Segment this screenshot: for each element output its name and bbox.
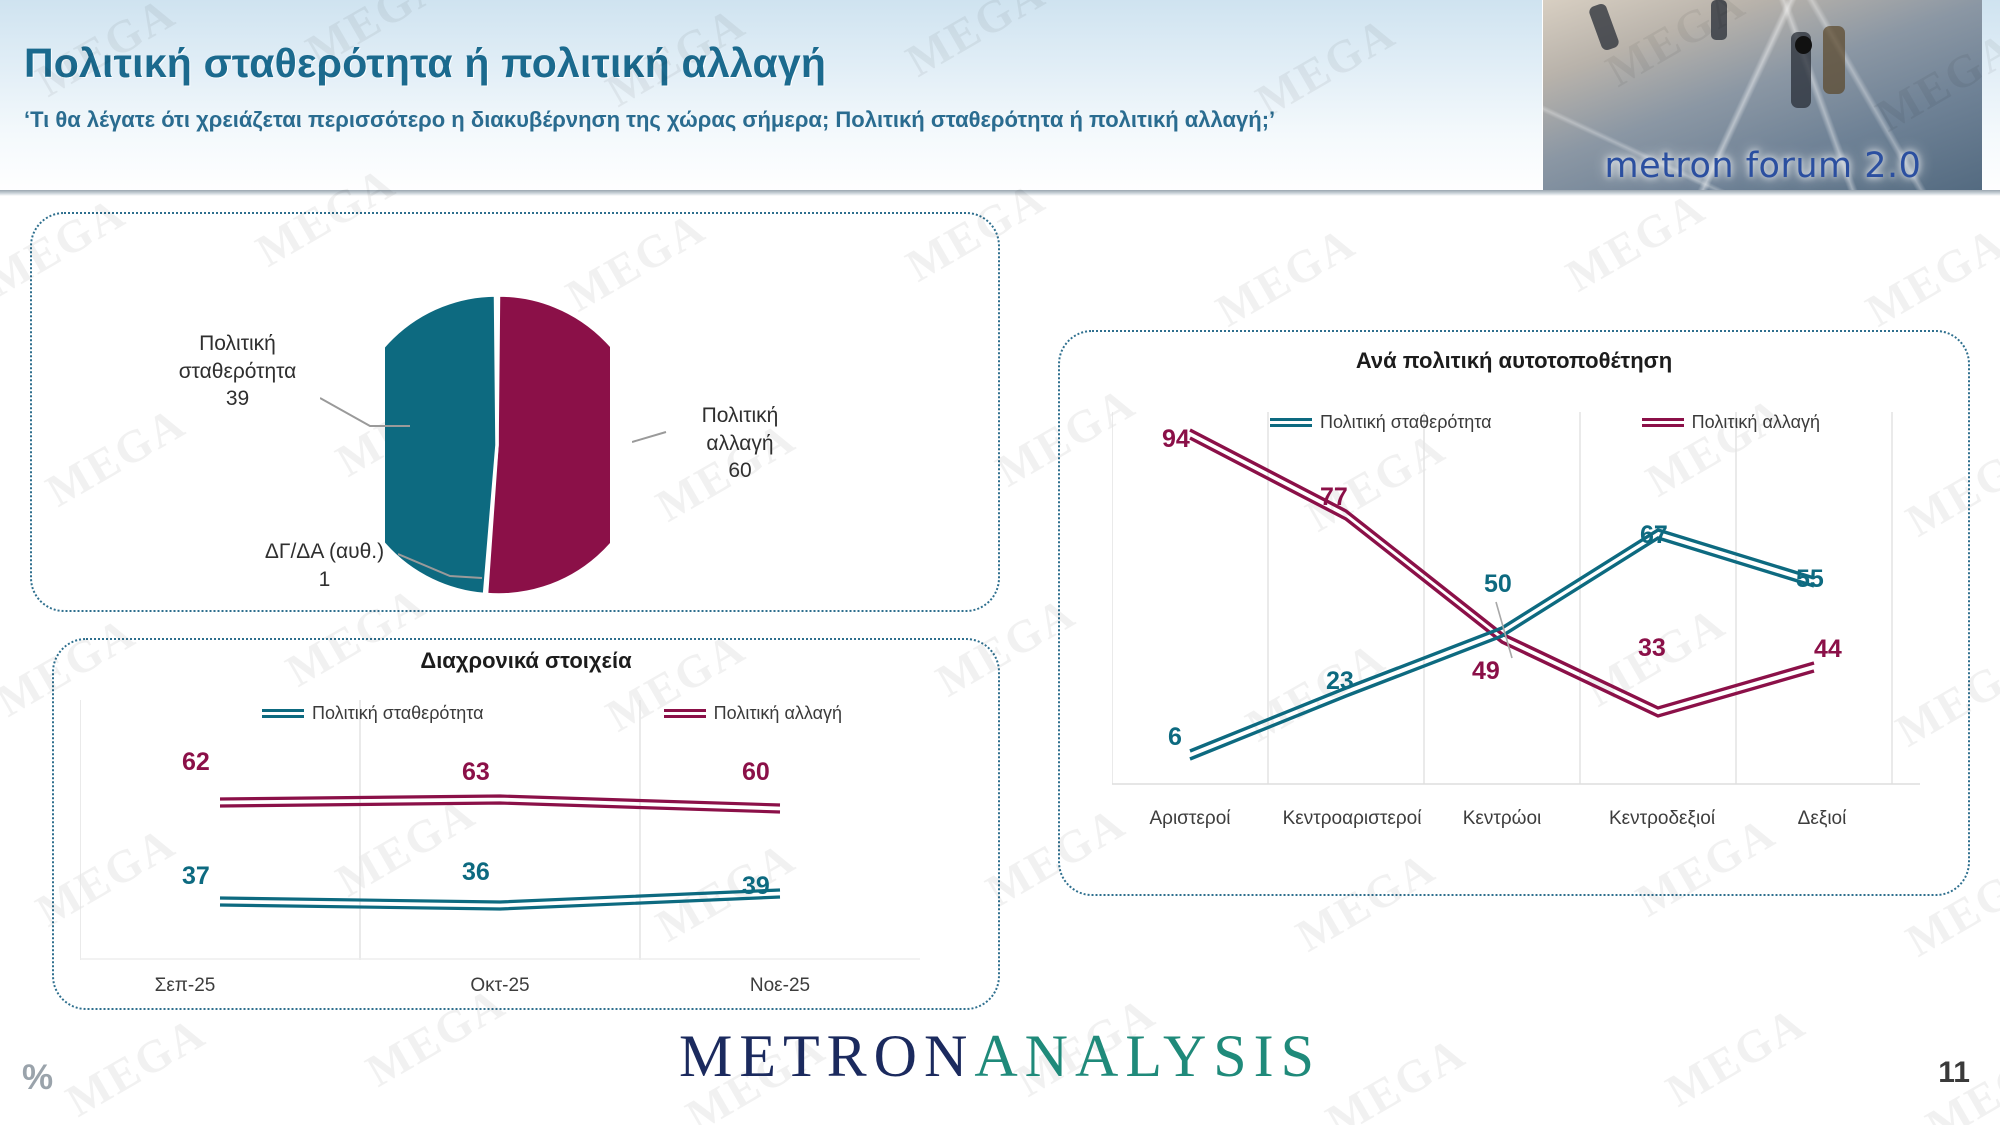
trend-datalabel-change-1: 63 (462, 758, 490, 787)
pie-label-political-stability: Πολιτική σταθερότητα 39 (150, 330, 325, 413)
legend-item-change[interactable]: Πολιτική αλλαγή (664, 703, 842, 724)
self-xaxis-label-3: Κεντροδεξιοί (1562, 808, 1762, 830)
legend-label: Πολιτική αλλαγή (714, 703, 842, 724)
trend-datalabel-change-2: 60 (742, 758, 770, 787)
legend-label: Πολιτική σταθερότητα (1320, 412, 1492, 433)
page-header: Πολιτική σταθερότητα ή πολιτική αλλαγή ‘… (0, 0, 2000, 196)
trend-plot-svg (80, 700, 920, 960)
trend-xaxis-label-1: Οκτ-25 (440, 975, 560, 997)
legend-label: Πολιτική σταθερότητα (312, 703, 484, 724)
pie-label-name: ΔΓ/ΔΑ (αυθ.) (265, 540, 384, 563)
header-divider (0, 190, 2000, 196)
trend-chart-legend: Πολιτική σταθερότητα Πολιτική αλλαγή (262, 703, 842, 724)
trend-xaxis-label-2: Νοε-25 (715, 975, 845, 997)
pie-label-value: 39 (226, 387, 249, 410)
self-xaxis-label-1: Κεντροαριστεροί (1252, 808, 1452, 830)
trend-datalabel-stability-0: 37 (182, 862, 210, 891)
self-plot-svg (1112, 412, 1920, 792)
trend-datalabel-stability-2: 39 (742, 872, 770, 901)
percent-icon: % (22, 1058, 53, 1098)
self-datalabel-stability-0: 6 (1168, 723, 1182, 752)
pie-label-political-change: Πολιτική αλλαγή 60 (670, 402, 810, 485)
self-datalabel-stability-3: 67 (1640, 521, 1668, 550)
pie-label-name: Πολιτική αλλαγή (702, 404, 779, 455)
logo-figure-5 (1795, 36, 1812, 54)
legend-key-magenta-icon (664, 709, 706, 718)
pie-label-value: 1 (319, 568, 331, 591)
legend-item-change[interactable]: Πολιτική αλλαγή (1642, 412, 1820, 433)
self-datalabel-change-3: 33 (1638, 634, 1666, 663)
self-datalabel-change-0: 94 (1162, 425, 1190, 454)
legend-item-stability[interactable]: Πολιτική σταθερότητα (262, 703, 484, 724)
footer-brand-analysis: ANALYSIS (974, 1023, 1321, 1089)
pie-label-dk: ΔΓ/ΔΑ (αυθ.) 1 (232, 538, 417, 593)
self-chart-title: Ανά πολιτική αυτοτοποθέτηση (1058, 348, 1970, 374)
page-subtitle: ‘Τι θα λέγατε ότι χρειάζεται περισσότερο… (24, 104, 1444, 135)
pie-leader-stability (320, 392, 412, 444)
logo-figure-2 (1711, 0, 1727, 40)
logo-figure-4 (1823, 26, 1845, 94)
trend-chart-title: Διαχρονικά στοιχεία (52, 648, 1000, 674)
self-datalabel-change-1: 77 (1320, 483, 1348, 512)
self-datalabel-stability-2: 50 (1484, 570, 1512, 599)
legend-key-teal-icon (262, 709, 304, 718)
pie-slice-political-change (487, 295, 611, 595)
trend-datalabel-change-0: 62 (182, 748, 210, 777)
legend-key-teal-icon (1270, 418, 1312, 427)
self-datalabel-stability-1: 23 (1326, 667, 1354, 696)
page-title: Πολιτική σταθερότητα ή πολιτική αλλαγή (24, 40, 826, 87)
self-datalabel-stability-4: 55 (1796, 565, 1824, 594)
self-plot-area (1112, 412, 1920, 792)
self-datalabel-change-4: 44 (1814, 635, 1842, 664)
self-xaxis-label-2: Κεντρώοι (1432, 808, 1572, 830)
footer-brand-metron: METRON (679, 1023, 974, 1089)
self-xaxis-label-0: Αριστεροί (1120, 808, 1260, 830)
self-chart-legend: Πολιτική σταθερότητα Πολιτική αλλαγή (1270, 412, 1820, 433)
legend-key-magenta-icon (1642, 418, 1684, 427)
logo-text: metron forum 2.0 (1551, 146, 1975, 186)
metron-analysis-footer-logo: METRONANALYSIS (0, 1022, 2000, 1091)
trend-xaxis-label-0: Σεπ-25 (130, 975, 240, 997)
self-xaxis-label-4: Δεξιοί (1752, 808, 1892, 830)
self-datalabel-change-2: 49 (1472, 657, 1500, 686)
legend-label: Πολιτική αλλαγή (1692, 412, 1820, 433)
trend-plot-area (80, 700, 920, 960)
page-number: 11 (1938, 1056, 1970, 1090)
metron-forum-logo: metron forum 2.0 (1542, 0, 1982, 192)
trend-datalabel-stability-1: 36 (462, 858, 490, 887)
legend-item-stability[interactable]: Πολιτική σταθερότητα (1270, 412, 1492, 433)
pie-label-value: 60 (728, 459, 751, 482)
pie-label-name: Πολιτική σταθερότητα (179, 332, 297, 383)
